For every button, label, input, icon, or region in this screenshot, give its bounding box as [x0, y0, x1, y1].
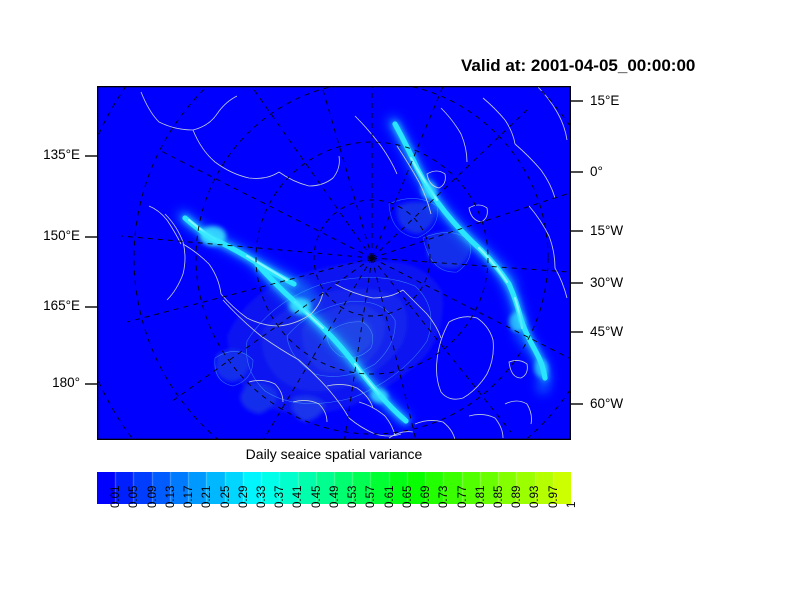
axis-label-right-4: 45°W — [590, 324, 623, 339]
colorbar-tick-label: 0.21 — [201, 486, 213, 508]
colorbar-tick-label: 0.45 — [311, 486, 323, 508]
colorbar-tick-label: 0.81 — [475, 486, 487, 508]
map-caption: Daily seaice spatial variance — [97, 446, 571, 462]
colorbar-tick-label: 0.05 — [128, 486, 140, 508]
colorbar-tick-label: 0.49 — [329, 486, 341, 508]
colorbar-tick-label: 0.57 — [365, 486, 377, 508]
colorbar-tick-label: 1 — [566, 502, 578, 508]
figure-canvas: Valid at: 2001-04-05_00:00:00 — [0, 0, 792, 612]
colorbar-tick-label: 0.41 — [292, 486, 304, 508]
axis-label-right-0: 15°E — [590, 93, 619, 108]
map-svg — [97, 86, 571, 440]
colorbar-tick-label: 0.97 — [548, 486, 560, 508]
axis-label-right-1: 0° — [590, 164, 603, 179]
axis-label-right-2: 15°W — [590, 223, 623, 238]
right-axis-ticks — [571, 86, 584, 440]
axis-label-right-5: 60°W — [590, 396, 623, 411]
colorbar-tick-label: 0.09 — [147, 486, 159, 508]
colorbar-tick-label: 0.65 — [402, 486, 414, 508]
colorbar-tick-label: 0.29 — [238, 486, 250, 508]
colorbar-tick-label: 0.01 — [110, 486, 122, 508]
axis-label-left-2: 165°E — [0, 298, 80, 313]
colorbar-tick-label: 0.33 — [256, 486, 268, 508]
left-axis-ticks — [85, 86, 98, 440]
colorbar-tick-label: 0.13 — [165, 486, 177, 508]
page-title: Valid at: 2001-04-05_00:00:00 — [461, 56, 695, 76]
colorbar-tick-label: 0.89 — [511, 486, 523, 508]
axis-label-left-0: 135°E — [0, 147, 80, 162]
colorbar-tick-label: 0.17 — [183, 486, 195, 508]
map-plot — [97, 86, 571, 440]
axis-label-left-3: 180° — [0, 375, 80, 390]
colorbar-tick-label: 0.73 — [438, 486, 450, 508]
map-content — [97, 86, 571, 440]
colorbar-tick-label: 0.93 — [529, 486, 541, 508]
axis-label-right-3: 30°W — [590, 275, 623, 290]
colorbar-tick-label: 0.77 — [457, 486, 469, 508]
colorbar-tick-label: 0.61 — [384, 486, 396, 508]
axis-label-left-1: 150°E — [0, 228, 80, 243]
colorbar-tick-label: 0.53 — [347, 486, 359, 508]
colorbar-tick-label: 0.37 — [274, 486, 286, 508]
colorbar-tick-label: 0.25 — [220, 486, 232, 508]
colorbar-tick-label: 0.85 — [493, 486, 505, 508]
colorbar-tick-label: 0.69 — [420, 486, 432, 508]
